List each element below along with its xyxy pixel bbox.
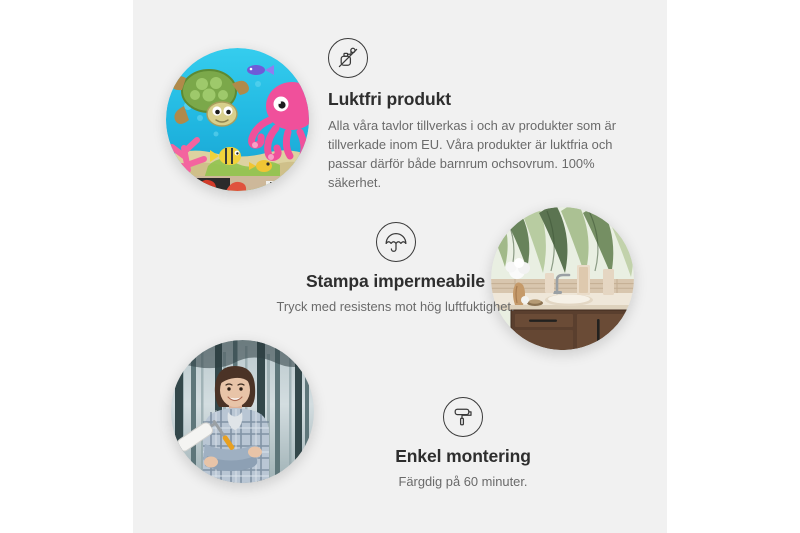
no-perfume-icon (328, 38, 368, 78)
content-panel: Luktfri produkt Alla våra tavlor tillver… (133, 0, 667, 533)
photo-underwater-cartoon-scene (166, 48, 309, 191)
photo-woman-with-paint-roller (171, 340, 314, 483)
promo-banner: Luktfri produkt Alla våra tavlor tillver… (0, 0, 800, 533)
feature-easy-mount: Enkel montering Färgdig på 60 minuter. (338, 397, 588, 491)
feature-body: Tryck med resistens mot hög luftfuktighe… (223, 297, 568, 316)
paint-roller-icon-wrap (338, 397, 588, 446)
no-perfume-icon-wrap (328, 38, 628, 78)
feature-waterproof: Stampa impermeabile Tryck med resistens … (223, 222, 568, 316)
feature-odourless: Luktfri produkt Alla våra tavlor tillver… (328, 38, 628, 192)
feature-title: Enkel montering (338, 446, 588, 468)
feature-body: Färgdig på 60 minuter. (338, 472, 588, 491)
feature-body: Alla våra tavlor tillverkas i och av pro… (328, 116, 628, 192)
feature-title: Luktfri produkt (328, 89, 628, 111)
paint-roller-icon (443, 397, 483, 437)
umbrella-icon (376, 222, 416, 262)
feature-title: Stampa impermeabile (223, 271, 568, 293)
umbrella-icon-wrap (223, 222, 568, 271)
